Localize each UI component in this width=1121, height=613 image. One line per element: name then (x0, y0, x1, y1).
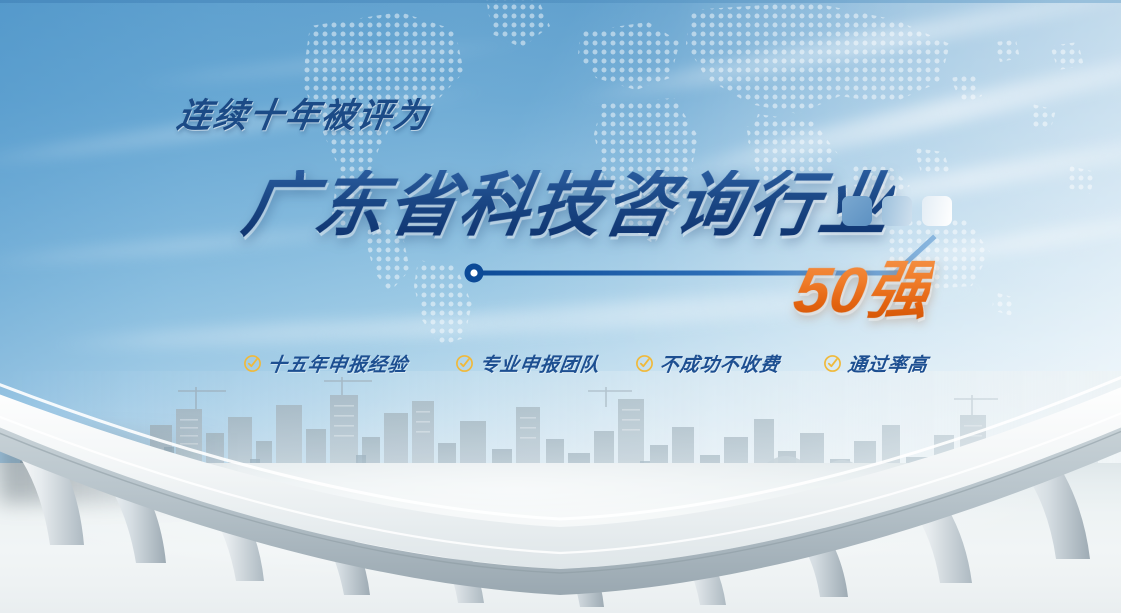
connector-dot (465, 264, 484, 283)
decorative-squares (842, 196, 952, 226)
feature-label: 专业申报团队 (478, 350, 602, 377)
check-circle-icon (243, 354, 262, 373)
feature-item: 十五年申报经验 (243, 350, 408, 377)
feature-label: 通过率高 (846, 350, 930, 377)
copy-block: 连续十年被评为 广东省科技咨询行业 (0, 0, 1121, 613)
square-light (922, 196, 952, 226)
check-circle-icon (823, 354, 842, 373)
feature-item: 不成功不收费 (635, 350, 780, 377)
square-mid (882, 196, 912, 226)
feature-list: 十五年申报经验 专业申报团队 (243, 350, 928, 377)
feature-item: 专业申报团队 (455, 350, 600, 377)
check-circle-icon (635, 354, 654, 373)
eyebrow-text: 连续十年被评为 (174, 88, 434, 137)
check-circle-icon (455, 354, 474, 373)
square-solid (842, 196, 872, 226)
promo-banner: 连续十年被评为 广东省科技咨询行业 (0, 0, 1121, 613)
feature-label: 不成功不收费 (658, 350, 782, 377)
feature-item: 通过率高 (823, 350, 928, 377)
award-rank-text: 50强 (789, 258, 935, 322)
feature-label: 十五年申报经验 (266, 350, 410, 377)
page-title: 广东省科技咨询行业 (238, 170, 898, 240)
